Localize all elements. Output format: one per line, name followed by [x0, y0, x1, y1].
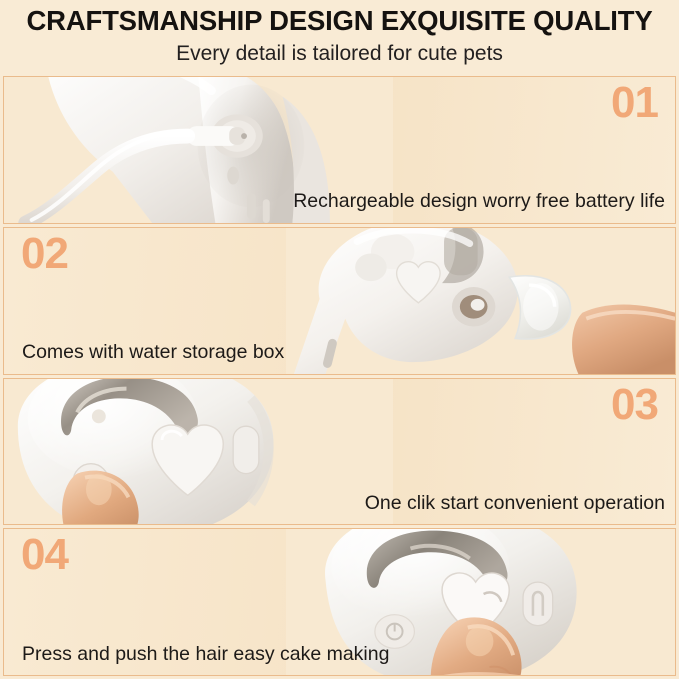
device-water-storage-box-photo [286, 228, 675, 374]
panel-caption: Press and push the hair easy cake making [22, 643, 389, 666]
panel-caption: One clik start convenient operation [365, 492, 665, 515]
panel-number: 04 [21, 533, 68, 577]
header: CRAFTSMANSHIP DESIGN EXQUISITE QUALITY E… [0, 0, 679, 76]
panel-caption: Comes with water storage box [22, 341, 284, 364]
page-title: CRAFTSMANSHIP DESIGN EXQUISITE QUALITY [27, 4, 653, 38]
panel-number: 03 [611, 383, 658, 427]
panel-number: 01 [611, 81, 658, 125]
feature-panel: 02 Comes with water storage box [3, 227, 676, 375]
product-feature-infographic: CRAFTSMANSHIP DESIGN EXQUISITE QUALITY E… [0, 0, 679, 679]
panel-caption: Rechargeable design worry free battery l… [293, 190, 665, 213]
feature-panel: 04 Press and push the hair easy cake mak… [3, 528, 676, 676]
panel-number: 02 [21, 232, 68, 276]
device-one-click-button-photo [4, 379, 393, 525]
page-subtitle: Every detail is tailored for cute pets [176, 40, 503, 67]
feature-panel-list: 01 Rechargeable design worry free batter… [0, 76, 679, 679]
feature-panel: 03 One clik start convenient operation [3, 378, 676, 526]
feature-panel: 01 Rechargeable design worry free batter… [3, 76, 676, 224]
